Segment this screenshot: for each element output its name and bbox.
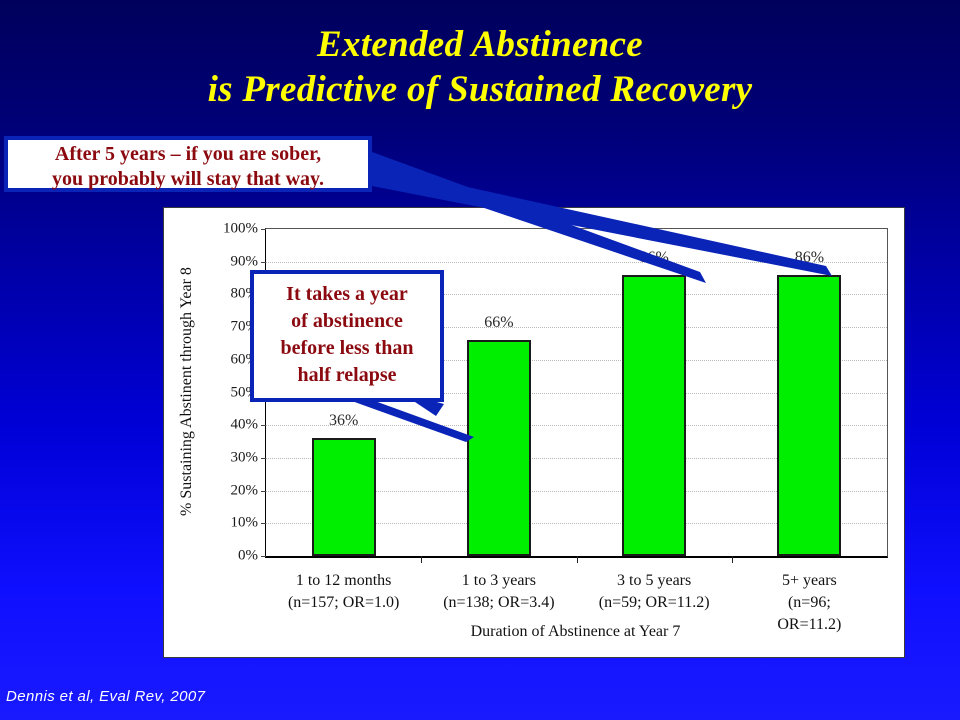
citation-text: Dennis et al, Eval Rev, 2007 — [6, 688, 205, 705]
slide-title: Extended Abstinence is Predictive of Sus… — [0, 22, 960, 112]
y-axis-title: % Sustaining Abstinent through Year 8 — [178, 228, 200, 555]
bar-value-label: 86% — [795, 249, 824, 267]
bar — [777, 275, 841, 556]
y-axis-tick-label: 10% — [231, 515, 259, 532]
x-axis-tick — [421, 556, 422, 563]
slide-canvas: Extended Abstinence is Predictive of Sus… — [0, 0, 960, 720]
bar-value-label: 36% — [329, 412, 358, 430]
y-axis-tick-label: 30% — [231, 449, 259, 466]
x-axis-category-label: 5+ years (n=96; OR=11.2) — [771, 570, 849, 636]
bar-value-label: 66% — [484, 314, 513, 332]
x-axis-category-label: 1 to 12 months (n=157; OR=1.0) — [288, 570, 399, 614]
y-axis-tick — [261, 262, 266, 263]
y-axis-tick — [261, 229, 266, 230]
bar — [467, 340, 531, 556]
bar — [622, 275, 686, 556]
x-axis-category-label: 3 to 5 years (n=59; OR=11.2) — [599, 570, 710, 614]
y-axis-tick-label: 0% — [238, 548, 258, 565]
y-axis-tick — [261, 556, 266, 557]
x-axis-category-label: 1 to 3 years (n=138; OR=3.4) — [443, 570, 554, 614]
bar-value-label: 86% — [639, 249, 668, 267]
y-axis-tick — [261, 523, 266, 524]
x-axis-tick — [577, 556, 578, 563]
y-axis-tick — [261, 425, 266, 426]
y-axis-tick — [261, 458, 266, 459]
y-axis-tick — [261, 491, 266, 492]
callout-after-5-years[interactable]: After 5 years – if you are sober, you pr… — [4, 136, 372, 192]
y-axis-tick-label: 100% — [223, 221, 258, 238]
bar — [312, 438, 376, 556]
callout-takes-a-year[interactable]: It takes a year of abstinence before les… — [250, 270, 444, 402]
x-axis-tick — [732, 556, 733, 563]
y-axis-tick-label: 20% — [231, 482, 259, 499]
y-axis-tick-label: 90% — [231, 253, 259, 270]
y-axis-tick-label: 40% — [231, 417, 259, 434]
